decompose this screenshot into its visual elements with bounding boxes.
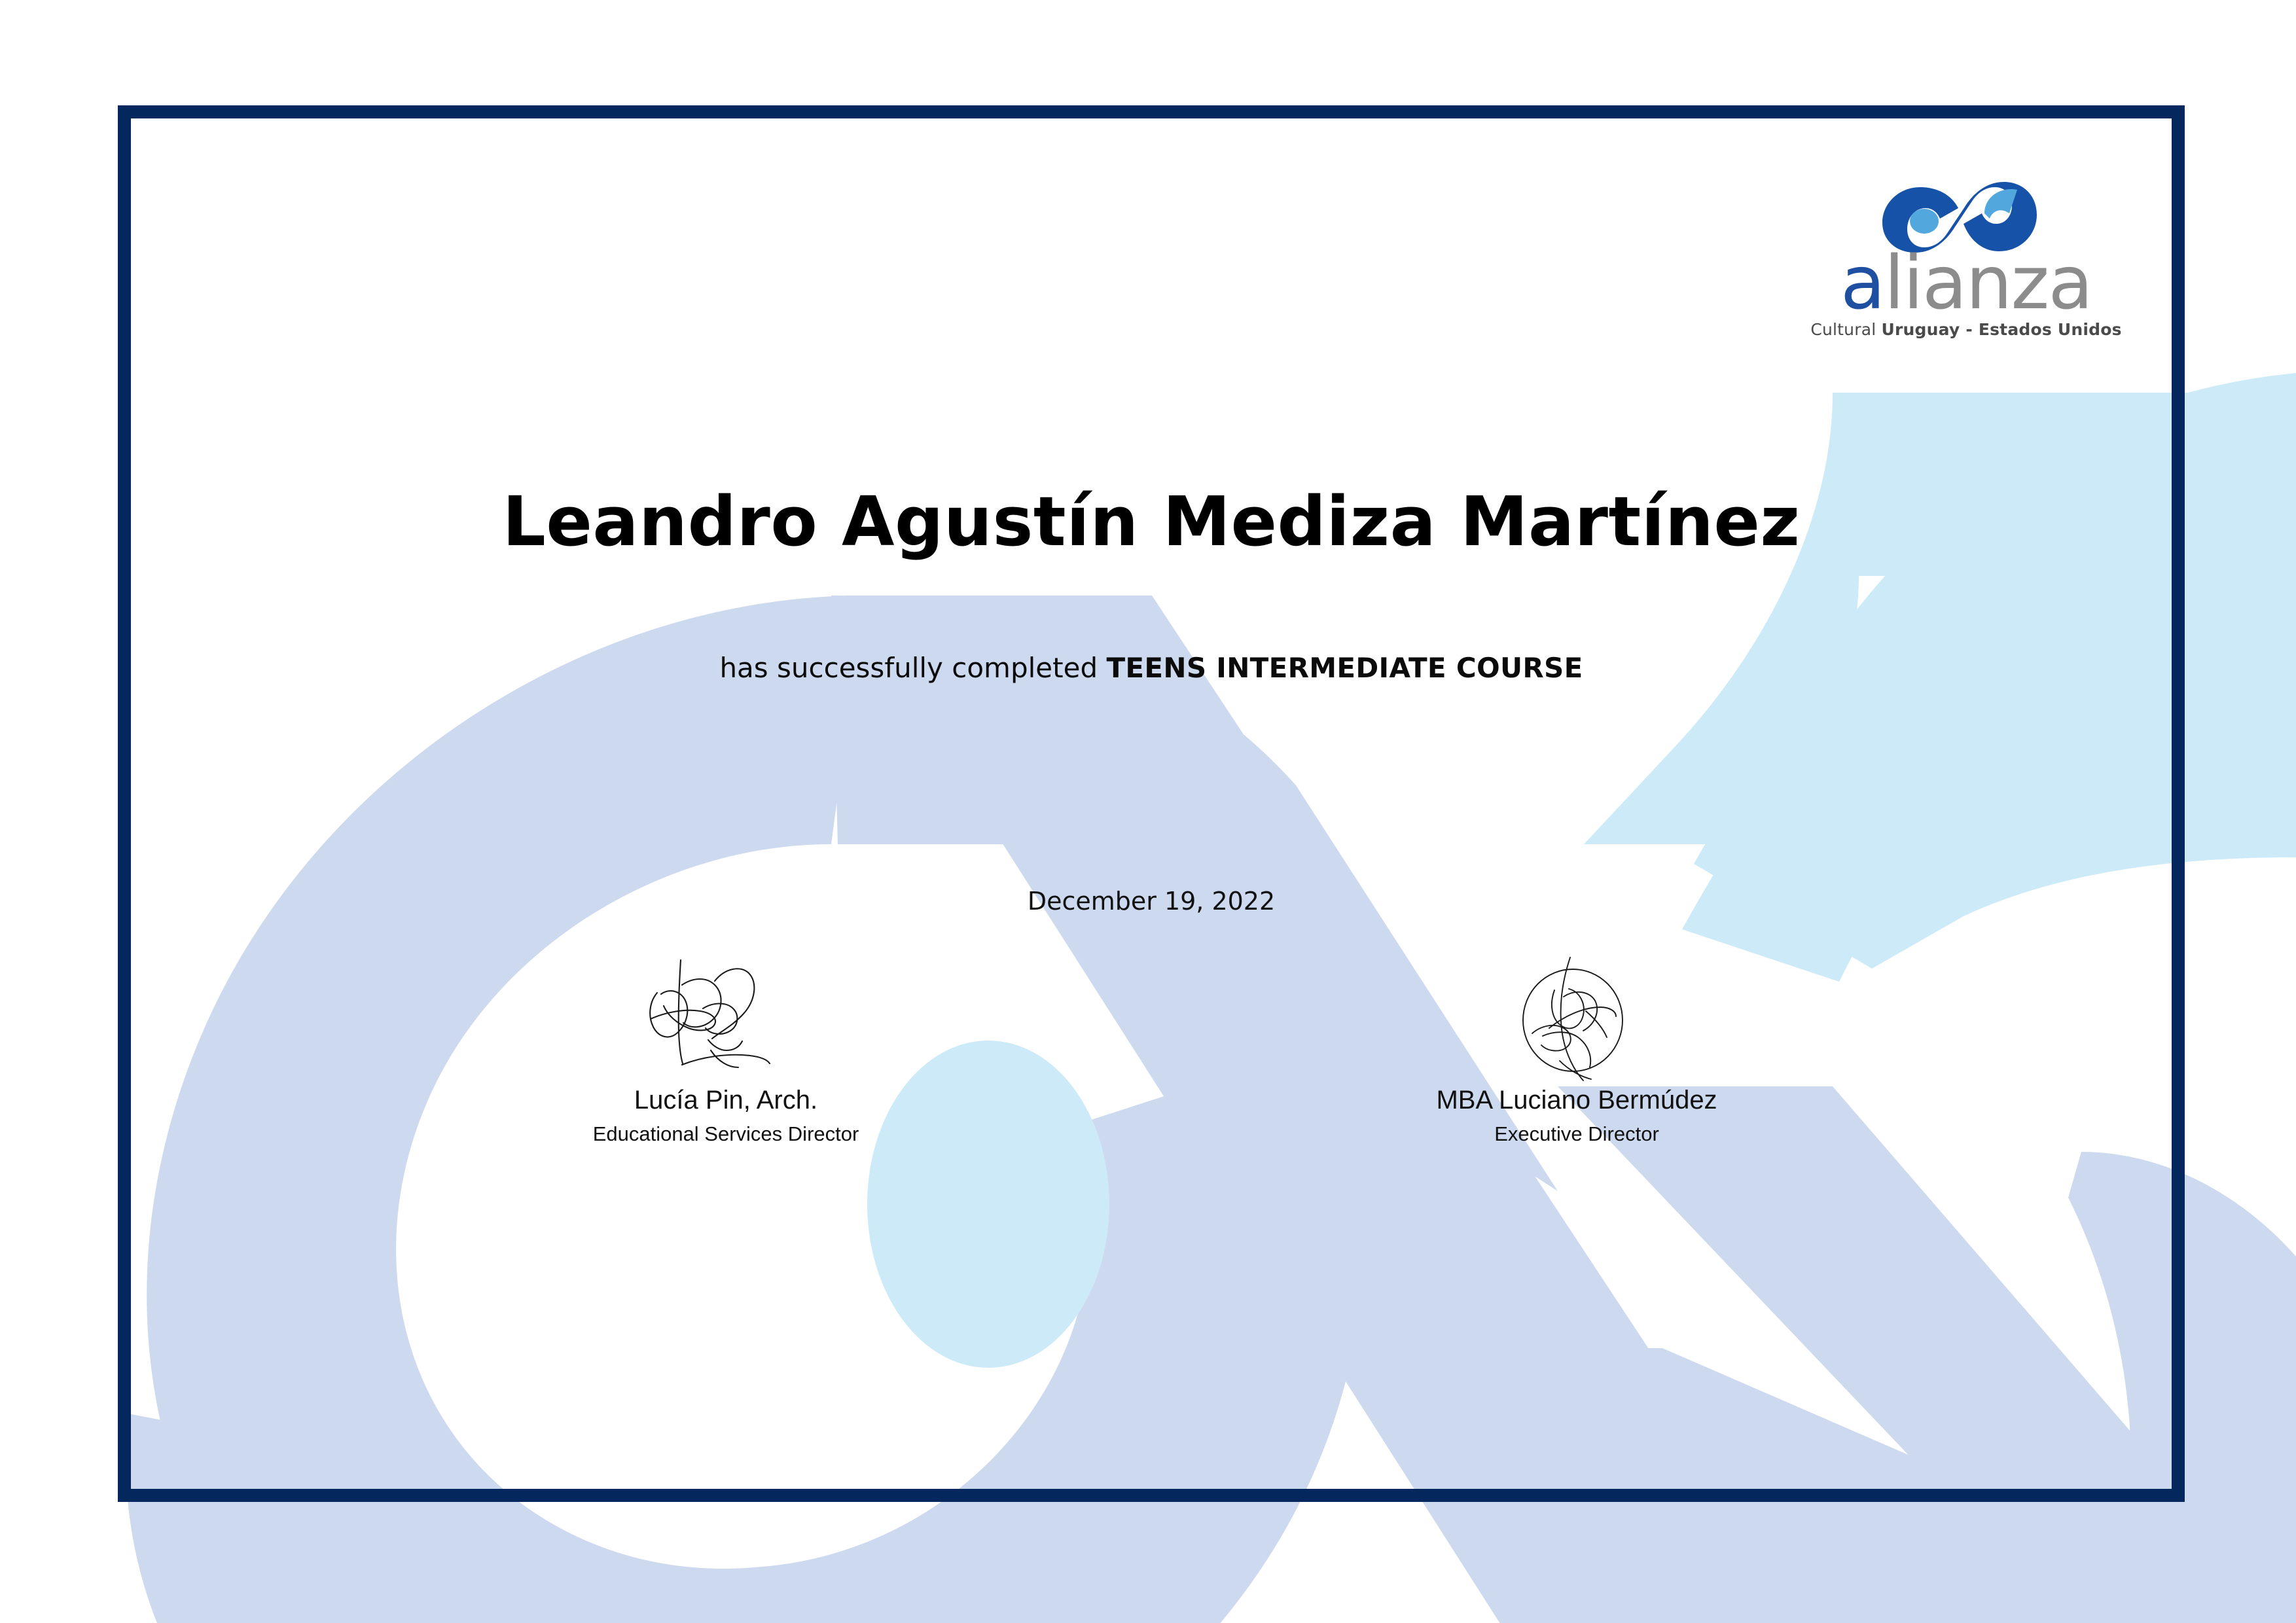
recipient-name: Leandro Agustín Mediza Martínez [118, 482, 2185, 562]
lucia-pin-signature [631, 951, 821, 1088]
certificate-content: alianza Cultural Uruguay - Estados Unido… [118, 105, 2185, 1502]
course-name: TEENS INTERMEDIATE COURSE [1106, 652, 1583, 684]
completion-prefix: has successfully completed [719, 652, 1106, 684]
signature-row: Lucía Pin, Arch. Educational Services Di… [118, 951, 2185, 1146]
signature-block-executive-director: MBA Luciano Bermúdez Executive Director [1374, 951, 1780, 1146]
alianza-tagline: Cultural Uruguay - Estados Unidos [1803, 320, 2130, 339]
luciano-bermudez-signature [1492, 951, 1662, 1088]
tagline-bold-part: Uruguay - Estados Unidos [1882, 320, 2122, 339]
signer-name: MBA Luciano Bermúdez [1374, 1086, 1780, 1115]
wordmark-body: lianza [1884, 241, 2092, 326]
wordmark-accent-letter: a [1840, 241, 1884, 326]
alianza-wordmark: alianza [1803, 250, 2130, 317]
tagline-light-part: Cultural [1810, 320, 1881, 339]
signer-name: Lucía Pin, Arch. [523, 1086, 929, 1115]
signer-title: Executive Director [1374, 1122, 1780, 1146]
signature-block-educational-director: Lucía Pin, Arch. Educational Services Di… [523, 951, 929, 1146]
alianza-logo: alianza Cultural Uruguay - Estados Unido… [1803, 181, 2130, 339]
issue-date: December 19, 2022 [118, 887, 2185, 916]
certificate-page: alianza Cultural Uruguay - Estados Unido… [0, 0, 2296, 1623]
signer-title: Educational Services Director [523, 1122, 929, 1146]
completion-statement: has successfully completed TEENS INTERME… [118, 652, 2185, 684]
